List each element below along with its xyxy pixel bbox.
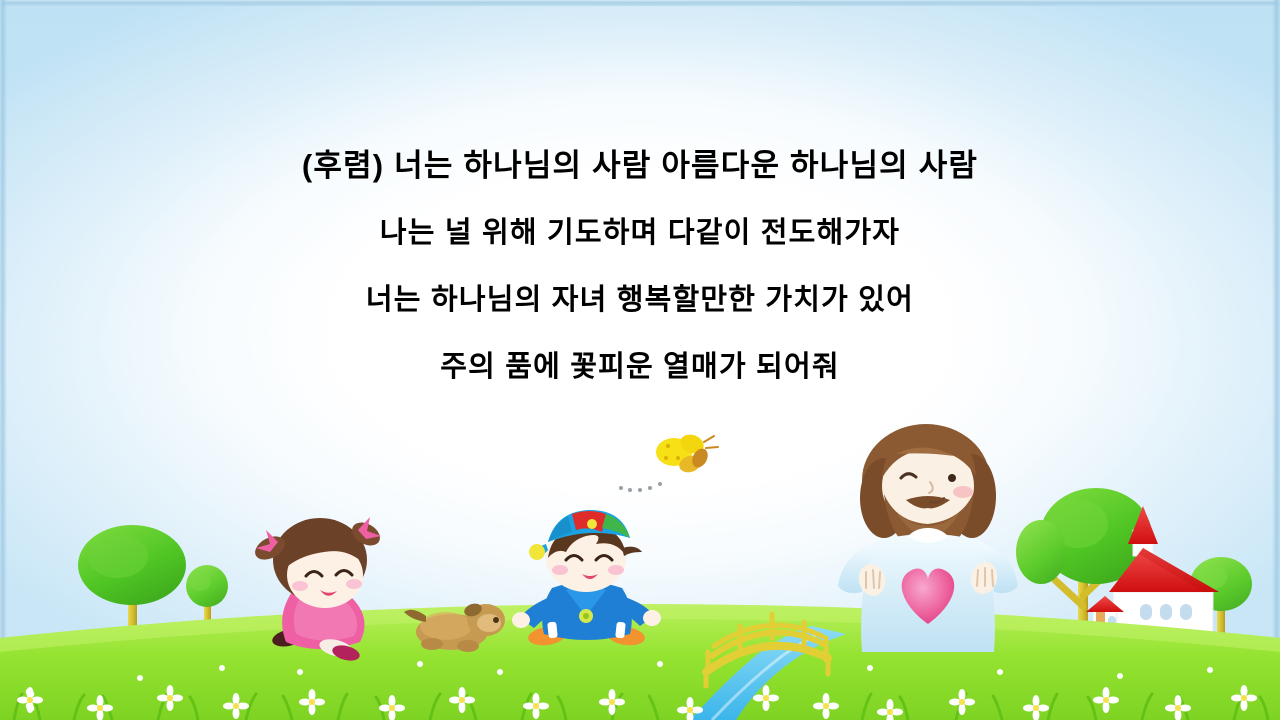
background-top-edge	[0, 0, 1280, 6]
slide-canvas: (후렴) 너는 하나님의 사람 아름다운 하나님의 사람 나는 널 위해 기도하…	[0, 0, 1280, 720]
tree-medium-right-edge	[1016, 520, 1066, 584]
lyric-line-4: 주의 품에 꽃피운 열매가 되어줘	[0, 353, 1280, 382]
lyric-line-1: (후렴) 너는 하나님의 사람 아름다운 하나님의 사람	[0, 150, 1280, 181]
butterfly	[619, 431, 718, 492]
lyric-line-3: 너는 하나님의 자녀 행복할만한 가치가 있어	[0, 286, 1280, 315]
jesus-character	[838, 424, 1018, 652]
lyric-line-2: 나는 널 위해 기도하며 다같이 전도해가자	[0, 219, 1280, 248]
illustration-scene	[0, 420, 1280, 720]
lyrics-block: (후렴) 너는 하나님의 사람 아름다운 하나님의 사람 나는 널 위해 기도하…	[0, 150, 1280, 382]
